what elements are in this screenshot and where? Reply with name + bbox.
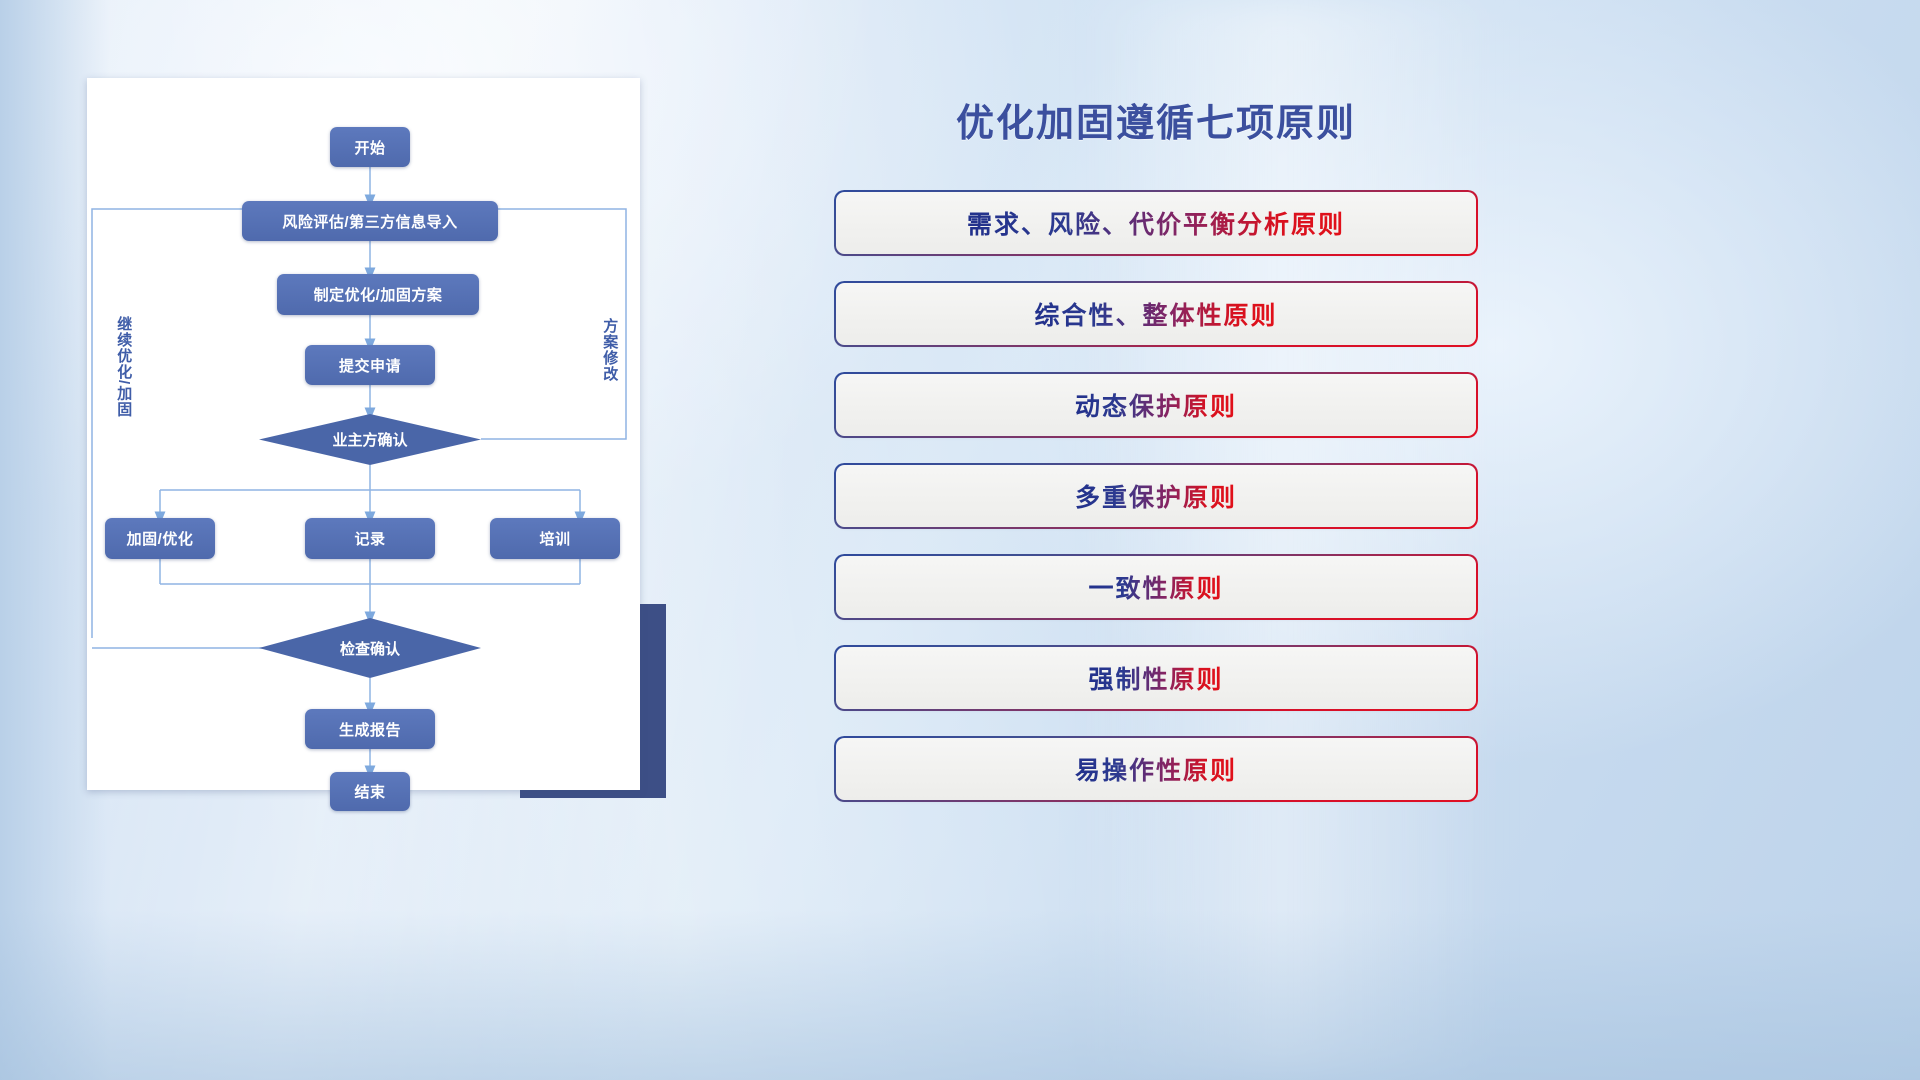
principle-card[interactable]: 综合性、整体性原则 xyxy=(836,283,1476,345)
principle-label: 一致性原则 xyxy=(1088,569,1223,605)
flow-node-reinforce[interactable]: 加固/优化 xyxy=(105,518,215,559)
background-bottom-shade xyxy=(0,910,1920,1080)
flow-node-report[interactable]: 生成报告 xyxy=(305,709,435,749)
flow-node-label: 业主方确认 xyxy=(332,429,407,450)
principle-card[interactable]: 需求、风险、代价平衡分析原则 xyxy=(836,192,1476,254)
flowchart-panel: 开始 风险评估/第三方信息导入 制定优化/加固方案 提交申请 业主方确认 加固/… xyxy=(87,78,640,790)
principles-list: 需求、风险、代价平衡分析原则 综合性、整体性原则 动态保护原则 多重保护原则 一… xyxy=(836,192,1476,829)
flow-node-label: 加固/优化 xyxy=(127,528,194,549)
principle-card[interactable]: 动态保护原则 xyxy=(836,374,1476,436)
principle-card[interactable]: 一致性原则 xyxy=(836,556,1476,618)
flow-node-plan[interactable]: 制定优化/加固方案 xyxy=(277,274,479,315)
principle-card[interactable]: 强制性原则 xyxy=(836,647,1476,709)
flow-edge-label-continue-optimize: 继续优化/加固 xyxy=(115,316,131,417)
flow-node-label: 结束 xyxy=(354,781,385,802)
principle-label: 需求、风险、代价平衡分析原则 xyxy=(967,205,1345,241)
flow-edge-label-plan-revision: 方案修改 xyxy=(601,318,617,382)
flow-node-label: 提交申请 xyxy=(339,355,401,376)
flow-node-label: 培训 xyxy=(539,528,570,549)
principle-label: 综合性、整体性原则 xyxy=(1034,296,1277,332)
principle-label: 动态保护原则 xyxy=(1075,387,1237,423)
flow-node-label: 生成报告 xyxy=(339,719,401,740)
flow-node-training[interactable]: 培训 xyxy=(490,518,620,559)
flow-node-label: 制定优化/加固方案 xyxy=(314,284,443,305)
flow-node-end[interactable]: 结束 xyxy=(330,772,410,811)
principle-card[interactable]: 多重保护原则 xyxy=(836,465,1476,527)
flow-node-record[interactable]: 记录 xyxy=(305,518,435,559)
principle-label: 多重保护原则 xyxy=(1075,478,1237,514)
flow-node-submit[interactable]: 提交申请 xyxy=(305,345,435,385)
flow-node-label: 开始 xyxy=(354,137,385,158)
flow-node-label: 检查确认 xyxy=(340,638,400,659)
principle-card[interactable]: 易操作性原则 xyxy=(836,738,1476,800)
principles-heading: 优化加固遵循七项原则 xyxy=(836,92,1476,147)
principle-label: 强制性原则 xyxy=(1088,660,1223,696)
principle-label: 易操作性原则 xyxy=(1075,751,1237,787)
flow-node-start[interactable]: 开始 xyxy=(330,127,410,167)
flow-node-label: 风险评估/第三方信息导入 xyxy=(282,211,457,232)
flow-node-label: 记录 xyxy=(354,528,385,549)
flow-node-risk-assessment[interactable]: 风险评估/第三方信息导入 xyxy=(242,201,498,241)
